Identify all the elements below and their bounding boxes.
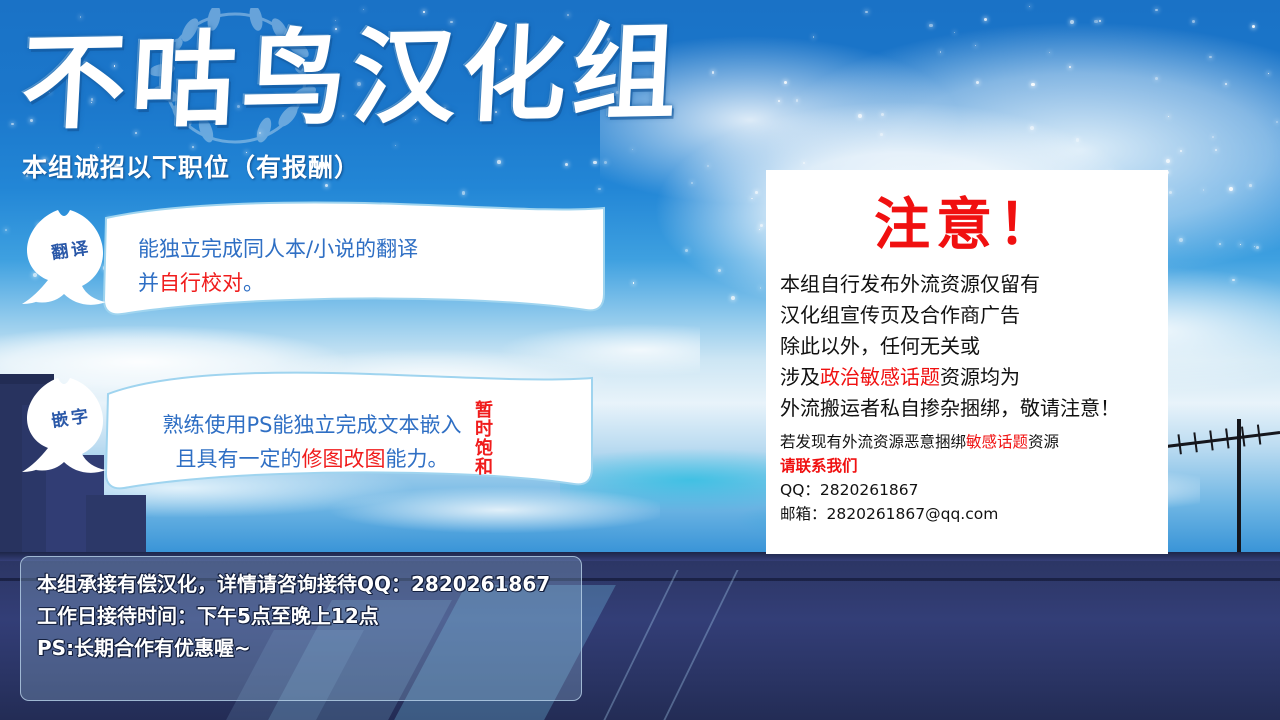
notice-body: 本组自行发布外流资源仅留有 汉化组宣传页及合作商广告 除此以外，任何无关或 涉及… [780, 269, 1168, 424]
notice-panel: 注意！ 本组自行发布外流资源仅留有 汉化组宣传页及合作商广告 除此以外，任何无关… [766, 170, 1168, 554]
l4-highlight: 政治敏感话题 [820, 365, 940, 389]
line2-prefix: 且具有一定的 [176, 447, 302, 471]
recruit-line-2: 并自行校对。 [138, 266, 418, 300]
dove-icon: 嵌字 [14, 372, 126, 482]
page-title: 不咕鸟汉化组 [18, 10, 766, 153]
email-contact-row: 邮箱：2820261867@qq.com [780, 502, 1168, 526]
line2-suffix: 能力。 [386, 447, 449, 471]
notice-heading: 注意！ [766, 180, 1168, 261]
page-subtitle: 本组诚招以下职位（有报酬） [22, 148, 360, 184]
notice-line-4: 涉及政治敏感话题资源均为 [780, 362, 1168, 393]
line2-highlight: 自行校对 [159, 271, 243, 295]
qq-contact-row: QQ：2820261867 [780, 478, 1168, 502]
notice-line-2: 汉化组宣传页及合作商广告 [780, 300, 1168, 331]
info-box: 本组承接有偿汉化，详情请咨询接待QQ：2820261867 工作日接待时间：下午… [20, 556, 582, 701]
info-line-2: 工作日接待时间：下午5点至晚上12点 [37, 600, 581, 632]
recruit-banner-text: 能独立完成同人本/小说的翻译 并自行校对。 [138, 232, 418, 300]
info-line-1: 本组承接有偿汉化，详情请咨询接待QQ：2820261867 [37, 568, 581, 600]
recruit-banner-translation: 能独立完成同人本/小说的翻译 并自行校对。 [100, 196, 610, 322]
recruit-line-1: 能独立完成同人本/小说的翻译 [138, 232, 418, 266]
notice-line-1: 本组自行发布外流资源仅留有 [780, 269, 1168, 300]
recruit-banner-typesetting: 熟练使用PS能独立完成文本嵌入 且具有一定的修图改图能力。 [100, 368, 600, 496]
tv-antenna-icon [1200, 405, 1280, 565]
f1-prefix: 若发现有外流资源恶意捆绑 [780, 433, 966, 451]
f1-suffix: 资源 [1028, 433, 1059, 451]
line2-suffix: 。 [243, 271, 264, 295]
recruit-banner-text: 熟练使用PS能独立完成文本嵌入 且具有一定的修图改图能力。 [132, 408, 492, 476]
contact-us-callout: 请联系我们 [780, 454, 1168, 478]
info-line-3: PS:长期合作有优惠喔~ [37, 632, 581, 664]
qq-label: QQ： [780, 481, 820, 499]
notice-footer-line-1: 若发现有外流资源恶意捆绑敏感话题资源 [780, 430, 1168, 454]
email-label: 邮箱： [780, 505, 827, 523]
notice-line-5: 外流搬运者私自掺杂捆绑，敬请注意！ [780, 393, 1168, 424]
recruit-line-2: 且具有一定的修图改图能力。 [132, 442, 492, 476]
dove-icon: 翻译 [14, 204, 126, 314]
poster-canvas: 不咕鸟汉化组 本组诚招以下职位（有报酬） 能独立完成同人本/小说的翻译 并自行校… [0, 0, 1280, 720]
l4-suffix: 资源均为 [940, 365, 1020, 389]
position-status-badge: 暂时饱和 [472, 400, 493, 476]
qq-value[interactable]: 2820261867 [820, 481, 919, 499]
notice-footer: 若发现有外流资源恶意捆绑敏感话题资源 请联系我们 QQ：2820261867 邮… [780, 430, 1168, 526]
f1-highlight: 敏感话题 [966, 433, 1028, 451]
notice-line-3: 除此以外，任何无关或 [780, 331, 1168, 362]
line2-prefix: 并 [138, 271, 159, 295]
recruit-line-1: 熟练使用PS能独立完成文本嵌入 [132, 408, 492, 442]
l4-prefix: 涉及 [780, 365, 820, 389]
line2-highlight: 修图改图 [302, 447, 386, 471]
email-value[interactable]: 2820261867@qq.com [827, 505, 999, 523]
